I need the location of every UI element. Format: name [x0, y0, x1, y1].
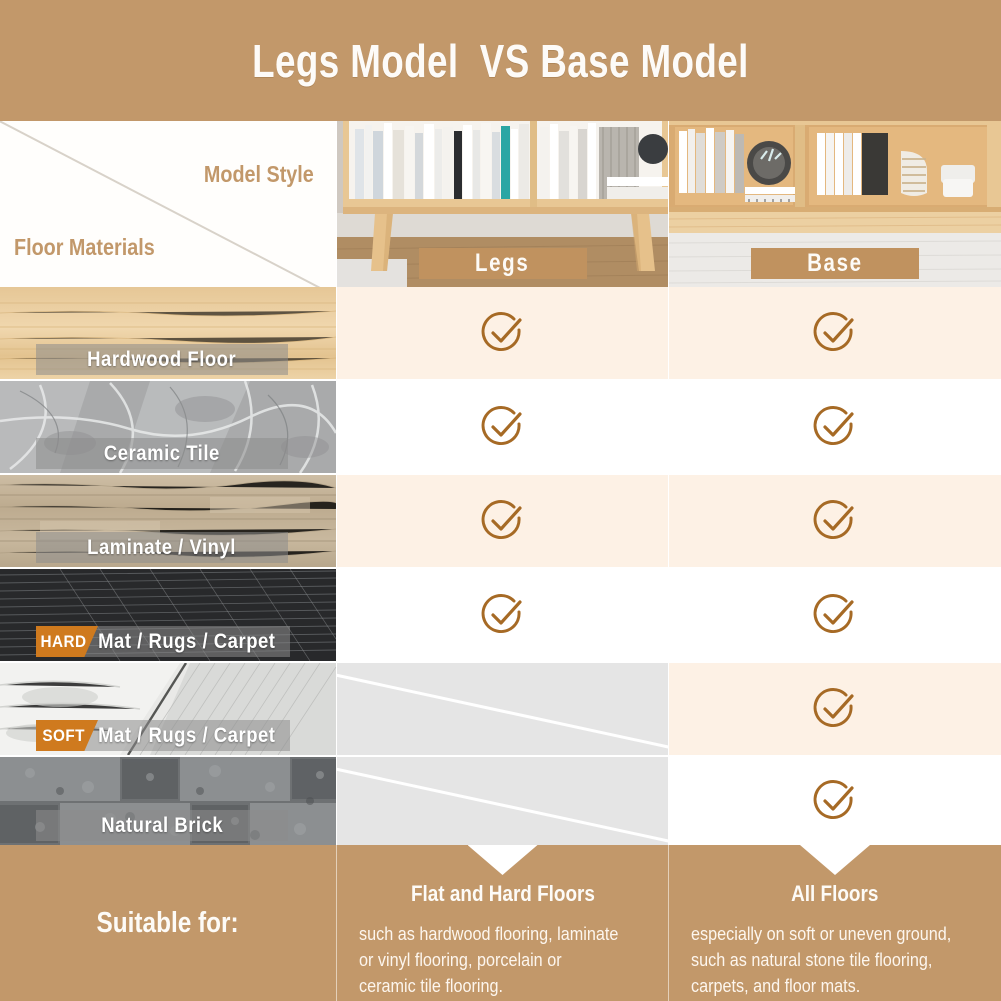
- row-label-plate: Laminate / Vinyl: [36, 532, 288, 563]
- cell-legs-hardwood-floor: [337, 287, 668, 381]
- row-label-plate: Mat / Rugs / Carpet: [84, 720, 290, 751]
- base-summary-cell: All Floors especially on soft or uneven …: [669, 845, 1001, 1001]
- base-summary-body: especially on soft or uneven ground, suc…: [691, 921, 983, 999]
- row-label: Laminate / Vinyl: [88, 536, 237, 560]
- column-divider-right: [668, 121, 669, 845]
- cell-legs-soft-mat: [337, 663, 668, 757]
- cell-base-ceramic-tile: [669, 381, 1001, 475]
- floor-materials-label: Floor Materials: [14, 234, 155, 261]
- legs-column: Legs: [337, 121, 668, 845]
- comparison-infographic: Legs Model VS Base Model Model Style Flo…: [0, 0, 1001, 1001]
- circle-check-icon: [479, 403, 527, 451]
- row-label: Mat / Rugs / Carpet: [98, 724, 275, 748]
- legs-summary-heading: Flat and Hard Floors: [337, 881, 668, 907]
- corner-header-cell: Model Style Floor Materials: [0, 121, 336, 287]
- suitable-for-cell: Suitable for:: [0, 845, 336, 1001]
- footer: Suitable for: Flat and Hard Floors such …: [0, 845, 1001, 1001]
- base-summary-body-text: especially on soft or uneven ground, suc…: [691, 921, 954, 999]
- cell-base-hardwood-floor: [669, 287, 1001, 381]
- not-suitable-slash: [337, 671, 668, 756]
- texture-ceramic-tile: Ceramic Tile: [0, 381, 336, 475]
- cell-base-laminate-vinyl: [669, 475, 1001, 569]
- not-suitable-slash: [337, 765, 668, 845]
- circle-check-icon: [811, 309, 859, 357]
- row-label-plate: Ceramic Tile: [36, 438, 288, 469]
- legs-column-label: Legs: [475, 249, 529, 278]
- row-label-plate: Natural Brick: [36, 810, 288, 841]
- model-style-label: Model Style: [204, 161, 314, 188]
- diagonal-divider: [0, 121, 327, 287]
- row-label: Hardwood Floor: [87, 348, 236, 372]
- legs-summary-body: such as hardwood flooring, laminate or v…: [359, 921, 650, 999]
- suitable-for-label: Suitable for:: [97, 907, 239, 940]
- base-banner: Base: [751, 248, 919, 279]
- row-label-plate: Hardwood Floor: [36, 344, 288, 375]
- soft-badge-label: SOFT: [42, 726, 85, 746]
- legs-summary-cell: Flat and Hard Floors such as hardwood fl…: [337, 845, 668, 1001]
- texture-natural-brick: Natural Brick: [0, 757, 336, 845]
- cell-base-soft-mat: [669, 663, 1001, 757]
- legs-notch-arrow: [468, 845, 538, 875]
- floor-materials-column: Model Style Floor Materials: [0, 121, 336, 845]
- base-product-photo: Base: [669, 121, 1001, 287]
- column-divider-left: [336, 121, 337, 845]
- row-label-plate: Mat / Rugs / Carpet: [84, 626, 290, 657]
- circle-check-icon: [479, 497, 527, 545]
- hard-badge-label: HARD: [40, 632, 86, 652]
- cell-base-hard-mat: [669, 569, 1001, 663]
- page-title: Legs Model VS Base Model: [252, 34, 749, 88]
- row-label: Ceramic Tile: [104, 442, 220, 466]
- row-label: Natural Brick: [101, 814, 223, 838]
- texture-hard-mat: HARD Mat / Rugs / Carpet: [0, 569, 336, 663]
- cell-base-natural-brick: [669, 757, 1001, 845]
- base-column: Base: [669, 121, 1001, 845]
- circle-check-icon: [811, 777, 859, 825]
- cell-legs-ceramic-tile: [337, 381, 668, 475]
- base-column-label: Base: [807, 249, 863, 278]
- row-label: Mat / Rugs / Carpet: [98, 630, 275, 654]
- legs-banner: Legs: [419, 248, 587, 279]
- comparison-grid: Model Style Floor Materials: [0, 121, 1001, 845]
- cell-legs-hard-mat: [337, 569, 668, 663]
- circle-check-icon: [479, 591, 527, 639]
- texture-soft-mat: SOFT Mat / Rugs / Carpet: [0, 663, 336, 757]
- legs-summary-body-text: such as hardwood flooring, laminate or v…: [359, 921, 621, 999]
- circle-check-icon: [479, 309, 527, 357]
- cell-legs-natural-brick: [337, 757, 668, 845]
- title-bar: Legs Model VS Base Model: [0, 0, 1001, 121]
- cell-legs-laminate-vinyl: [337, 475, 668, 569]
- texture-hardwood-floor: Hardwood Floor: [0, 287, 336, 381]
- base-summary-heading: All Floors: [669, 881, 1001, 907]
- texture-laminate-vinyl: Laminate / Vinyl: [0, 475, 336, 569]
- base-summary-heading-text: All Floors: [791, 881, 878, 907]
- circle-check-icon: [811, 685, 859, 733]
- circle-check-icon: [811, 591, 859, 639]
- circle-check-icon: [811, 497, 859, 545]
- legs-product-photo: Legs: [337, 121, 668, 287]
- legs-summary-heading-text: Flat and Hard Floors: [411, 881, 595, 907]
- base-notch-arrow: [800, 845, 870, 875]
- circle-check-icon: [811, 403, 859, 451]
